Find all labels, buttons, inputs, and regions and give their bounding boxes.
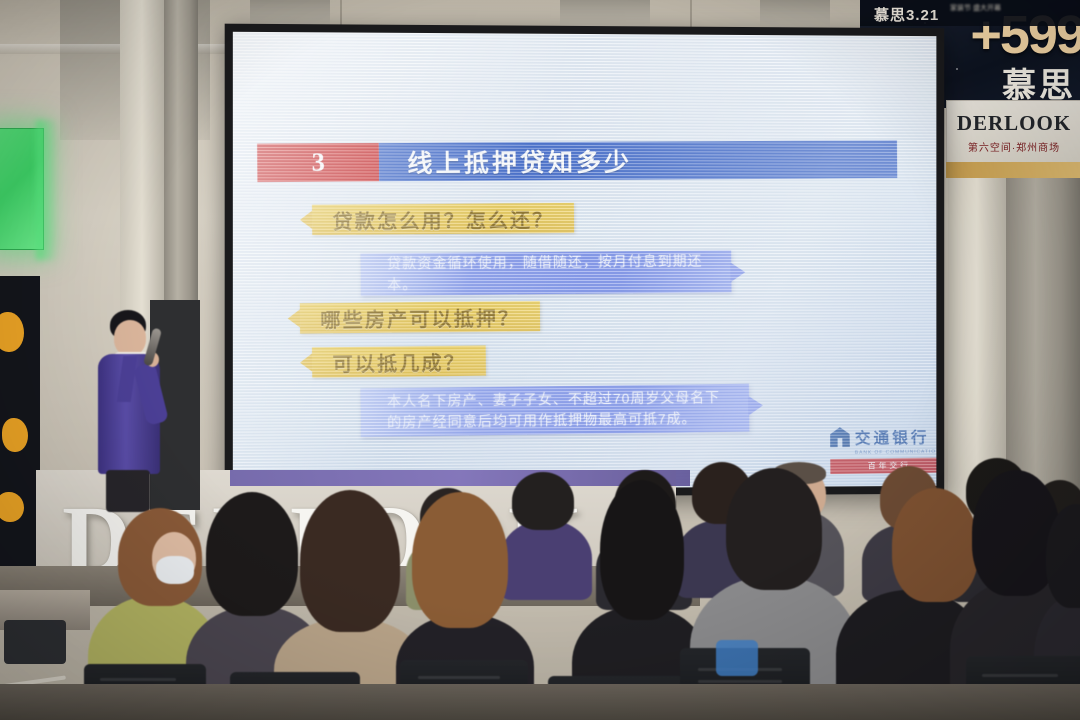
mask-icon bbox=[156, 556, 194, 584]
list-item bbox=[892, 488, 978, 602]
floor bbox=[0, 684, 1080, 720]
chair-slot bbox=[100, 678, 176, 681]
photo-scene: +599 慕思 慕思3.21 家装节 盛大开幕 DERLOOK 第六空间·郑州商… bbox=[0, 0, 1080, 720]
list-item bbox=[726, 468, 822, 590]
list-item bbox=[512, 472, 574, 530]
chair-slot bbox=[698, 680, 782, 683]
list-item bbox=[412, 492, 508, 628]
chair-slot bbox=[418, 676, 500, 679]
list-item bbox=[300, 490, 400, 632]
blue-bag bbox=[716, 640, 758, 676]
audience bbox=[0, 0, 1080, 720]
list-item bbox=[500, 520, 592, 600]
chair-slot bbox=[982, 674, 1058, 677]
list-item bbox=[600, 480, 684, 620]
list-item bbox=[206, 492, 298, 616]
equipment-box bbox=[4, 620, 66, 664]
